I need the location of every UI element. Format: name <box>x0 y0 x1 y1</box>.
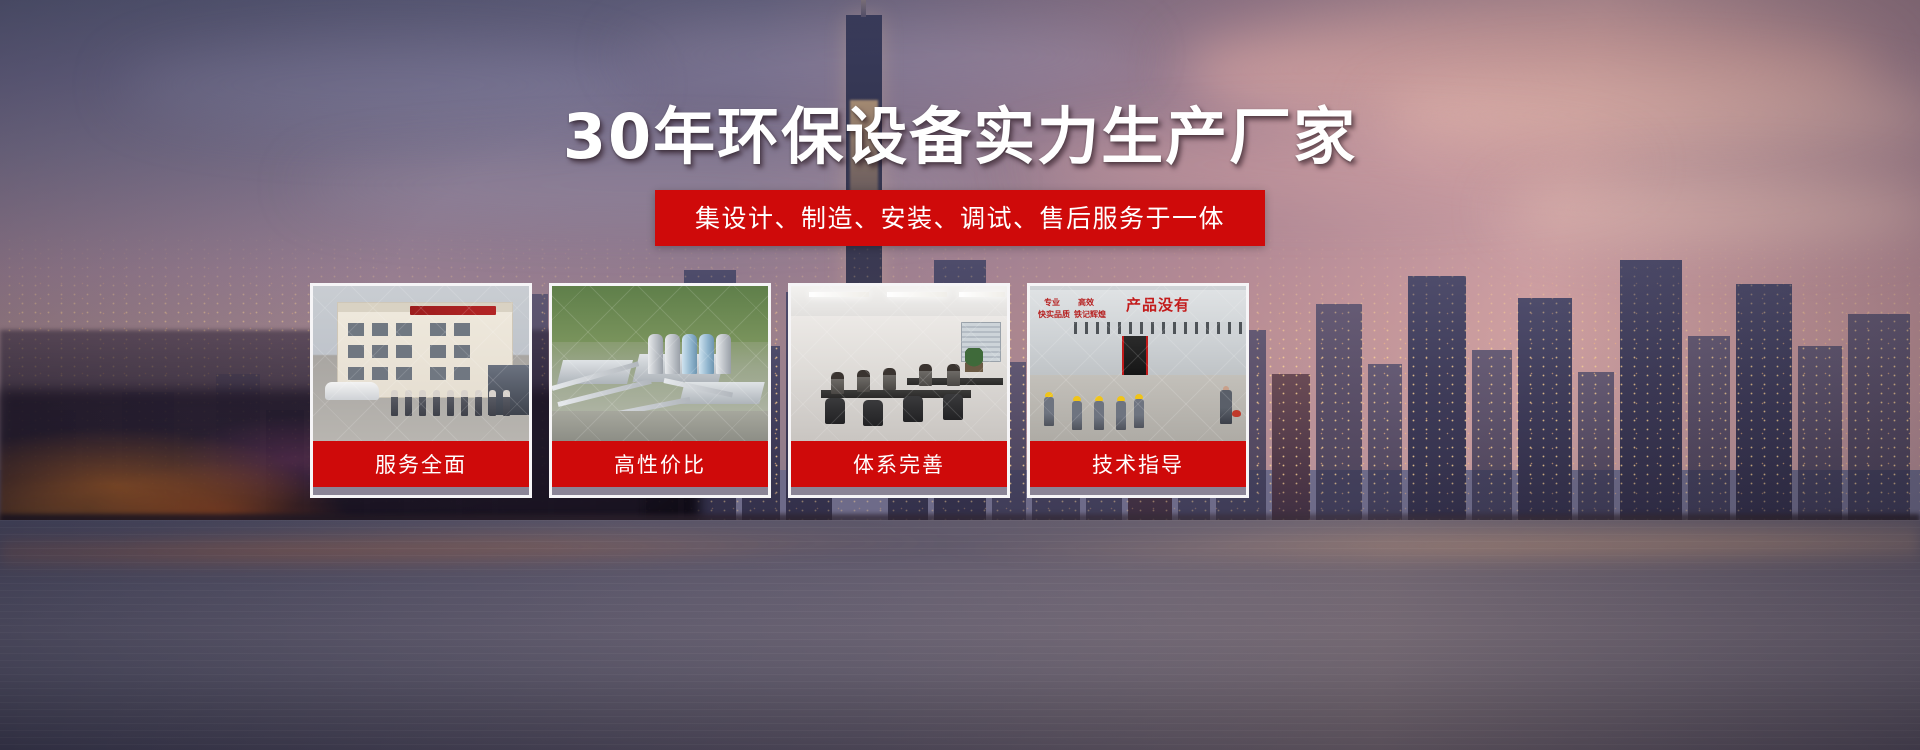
factory-wall-slogan-2: 高效 <box>1078 298 1094 307</box>
feature-card: 体系完善 <box>788 283 1010 498</box>
subtitle-container: 集设计、制造、安装、调试、售后服务于一体 <box>0 190 1920 246</box>
factory-wall-subslogan-2: 铁记辉煌 <box>1074 310 1106 319</box>
feature-card-caption: 体系完善 <box>791 441 1007 487</box>
factory-wall-subslogan-1: 快实品质 <box>1038 310 1070 319</box>
feature-card[interactable]: 服务全面 <box>310 283 532 498</box>
feature-card[interactable]: 高性价比 <box>549 283 771 498</box>
hero-banner: 30年环保设备实力生产厂家 集设计、制造、安装、调试、售后服务于一体 <box>0 0 1920 750</box>
factory-wall-slogan-1: 专业 <box>1044 298 1060 307</box>
subtitle-badge: 集设计、制造、安装、调试、售后服务于一体 <box>655 190 1265 246</box>
aerial-plant-photo <box>552 286 768 441</box>
river-surface-shine <box>0 520 1920 750</box>
factory-workshop-photo: 产品没有 专业 高效 快实品质 铁记辉煌 <box>1030 286 1246 441</box>
feature-card[interactable]: 产品没有 专业 高效 快实品质 铁记辉煌 技术指导 <box>1027 283 1249 498</box>
factory-wall-banner: 产品没有 <box>1126 294 1244 316</box>
feature-card-caption: 服务全面 <box>313 441 529 487</box>
company-headquarters-photo <box>313 286 529 441</box>
page-title: 30年环保设备实力生产厂家 <box>0 104 1920 169</box>
feature-card-list: 服务全面 高性价比 <box>310 283 1550 498</box>
feature-card-caption: 技术指导 <box>1030 441 1246 487</box>
feature-card-caption: 高性价比 <box>552 441 768 487</box>
office-interior-photo <box>791 286 1007 441</box>
